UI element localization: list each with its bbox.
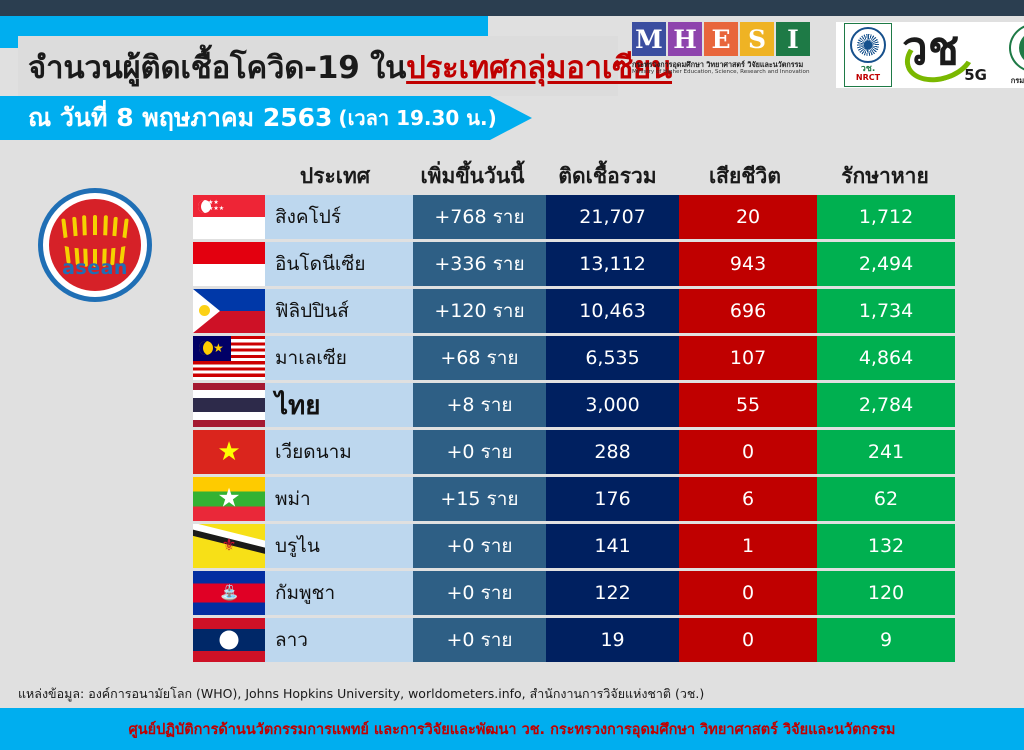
mhesi-thai-name: กระทรวงการอุดมศึกษา วิทยาศาสตร์ วิจัยและ… (632, 60, 832, 69)
agency-logo-box: วช. NRCT วช 5G ☤ กรมควบคุมโรค (836, 22, 1024, 88)
thailand-flag (193, 383, 265, 427)
nrct-seal-icon (850, 27, 886, 63)
asean-wordmark: asean (49, 257, 141, 279)
header-recovered: รักษาหาย (815, 160, 955, 195)
table-row: ★★★★★สิงคโปร์+768 ราย21,707201,712 (193, 195, 955, 239)
ddc-logo: ☤ กรมควบคุมโรค (996, 23, 1024, 87)
cell-new-cases: +768 ราย (413, 195, 546, 239)
cell-new-cases: +0 ราย (413, 430, 546, 474)
covid-table: ประเทศ เพิ่มขึ้นวันนี้ ติดเชื้อรวม เสียช… (193, 158, 955, 665)
table-row: ลาว+0 ราย1909 (193, 618, 955, 662)
cell-recovered: 4,864 (817, 336, 955, 380)
nrct-abbr-label: NRCT (856, 74, 880, 83)
page-subtitle: ณ วันที่ 8 พฤษภาคม 2563 (เวลา 19.30 น.) (28, 98, 498, 138)
cell-deaths: 1 (679, 524, 817, 568)
header-deaths: เสียชีวิต (675, 160, 815, 195)
cell-new-cases: +68 ราย (413, 336, 546, 380)
cell-country: เวียดนาม (265, 430, 413, 474)
cell-new-cases: +336 ราย (413, 242, 546, 286)
wch-5g-logo: วช 5G (902, 27, 986, 83)
cell-recovered: 2,494 (817, 242, 955, 286)
cell-country: กัมพูชา (265, 571, 413, 615)
cell-deaths: 107 (679, 336, 817, 380)
cell-recovered: 132 (817, 524, 955, 568)
cell-total-cases: 19 (546, 618, 679, 662)
cell-country: ไทย (265, 383, 413, 427)
cell-total-cases: 288 (546, 430, 679, 474)
cell-country: มาเลเซีย (265, 336, 413, 380)
cell-country: สิงคโปร์ (265, 195, 413, 239)
cambodia-flag: ⛲ (193, 571, 265, 615)
page-title: จำนวนผู้ติดเชื้อโควิด-19 ในประเทศกลุ่มอา… (28, 40, 628, 94)
footer-bar: ศูนย์ปฏิบัติการด้านนวัตกรรมการแพทย์ และก… (0, 708, 1024, 750)
cell-country: บรูไน (265, 524, 413, 568)
cell-total-cases: 141 (546, 524, 679, 568)
wch-glyph-label: วช (902, 25, 959, 71)
mhesi-letter-e: E (704, 22, 738, 56)
cell-total-cases: 3,000 (546, 383, 679, 427)
ddc-seal-icon: ☤ (1009, 23, 1024, 73)
cell-total-cases: 10,463 (546, 289, 679, 333)
table-row: อินโดนีเซีย+336 ราย13,1129432,494 (193, 242, 955, 286)
table-row: ⚜บรูไน+0 ราย1411132 (193, 524, 955, 568)
cell-new-cases: +0 ราย (413, 524, 546, 568)
cell-deaths: 55 (679, 383, 817, 427)
myanmar-flag: ★ (193, 477, 265, 521)
cell-recovered: 120 (817, 571, 955, 615)
cell-deaths: 696 (679, 289, 817, 333)
table-row: ฟิลิปปินส์+120 ราย10,4636961,734 (193, 289, 955, 333)
cell-total-cases: 13,112 (546, 242, 679, 286)
cell-country: ลาว (265, 618, 413, 662)
cell-new-cases: +0 ราย (413, 571, 546, 615)
cell-total-cases: 21,707 (546, 195, 679, 239)
cell-recovered: 62 (817, 477, 955, 521)
header-new-cases: เพิ่มขึ้นวันนี้ (405, 160, 540, 195)
title-main-text: จำนวนผู้ติดเชื้อโควิด-19 ใน (28, 42, 406, 92)
subtitle-time: (เวลา 19.30 น.) (338, 102, 496, 134)
asean-stalk-waist (58, 235, 132, 249)
vietnam-flag: ★ (193, 430, 265, 474)
cell-total-cases: 176 (546, 477, 679, 521)
source-note: แหล่งข้อมูล: องค์การอนามัยโลก (WHO), Joh… (18, 684, 704, 704)
header-country: ประเทศ (265, 160, 405, 195)
nrct-logo: วช. NRCT (844, 23, 892, 87)
logo-bar: M H E S I กระทรวงการอุดมศึกษา วิทยาศาสตร… (632, 22, 1024, 100)
cell-new-cases: +8 ราย (413, 383, 546, 427)
cell-recovered: 2,784 (817, 383, 955, 427)
cell-new-cases: +120 ราย (413, 289, 546, 333)
cell-recovered: 1,734 (817, 289, 955, 333)
header-total-cases: ติดเชื้อรวม (540, 160, 675, 195)
cell-deaths: 0 (679, 430, 817, 474)
philippines-flag (193, 289, 265, 333)
cell-recovered: 1,712 (817, 195, 955, 239)
subtitle-date: ณ วันที่ 8 พฤษภาคม 2563 (28, 98, 332, 138)
table-row: ไทย+8 ราย3,000552,784 (193, 383, 955, 427)
indonesia-flag (193, 242, 265, 286)
footer-bar-text: ศูนย์ปฏิบัติการด้านนวัตกรรมการแพทย์ และก… (128, 718, 895, 741)
mhesi-letter-blocks: M H E S I (632, 22, 832, 56)
ddc-caduceus-icon: ☤ (1019, 31, 1024, 65)
table-row: ★พม่า+15 ราย176662 (193, 477, 955, 521)
singapore-flag: ★★★★★ (193, 195, 265, 239)
table-row: ★เวียดนาม+0 ราย2880241 (193, 430, 955, 474)
cell-new-cases: +0 ราย (413, 618, 546, 662)
mhesi-letter-h: H (668, 22, 702, 56)
cell-deaths: 0 (679, 571, 817, 615)
wch-5g-label: 5G (964, 66, 987, 84)
ddc-caption-label: กรมควบคุมโรค (1011, 75, 1024, 87)
mhesi-english-name: Ministry of Higher Education, Science, R… (632, 69, 832, 76)
asean-red-disc: asean (49, 199, 141, 291)
cell-deaths: 20 (679, 195, 817, 239)
cell-deaths: 0 (679, 618, 817, 662)
cell-total-cases: 122 (546, 571, 679, 615)
table-row: ⛲กัมพูชา+0 ราย1220120 (193, 571, 955, 615)
mhesi-letter-s: S (740, 22, 774, 56)
cell-new-cases: +15 ราย (413, 477, 546, 521)
cell-country: ฟิลิปปินส์ (265, 289, 413, 333)
mhesi-logo: M H E S I กระทรวงการอุดมศึกษา วิทยาศาสตร… (632, 22, 832, 76)
cell-deaths: 943 (679, 242, 817, 286)
cell-total-cases: 6,535 (546, 336, 679, 380)
top-dark-strip (0, 0, 1024, 16)
brunei-flag: ⚜ (193, 524, 265, 568)
cell-recovered: 241 (817, 430, 955, 474)
cell-country: พม่า (265, 477, 413, 521)
malaysia-flag: ★ (193, 336, 265, 380)
laos-flag (193, 618, 265, 662)
mhesi-letter-i: I (776, 22, 810, 56)
infographic-page: จำนวนผู้ติดเชื้อโควิด-19 ในประเทศกลุ่มอา… (0, 0, 1024, 750)
cell-country: อินโดนีเซีย (265, 242, 413, 286)
asean-logo: asean (30, 188, 160, 306)
cell-deaths: 6 (679, 477, 817, 521)
cell-recovered: 9 (817, 618, 955, 662)
table-body: ★★★★★สิงคโปร์+768 ราย21,707201,712อินโดน… (193, 195, 955, 662)
table-header-row: ประเทศ เพิ่มขึ้นวันนี้ ติดเชื้อรวม เสียช… (193, 158, 955, 195)
mhesi-letter-m: M (632, 22, 666, 56)
table-row: ★มาเลเซีย+68 ราย6,5351074,864 (193, 336, 955, 380)
